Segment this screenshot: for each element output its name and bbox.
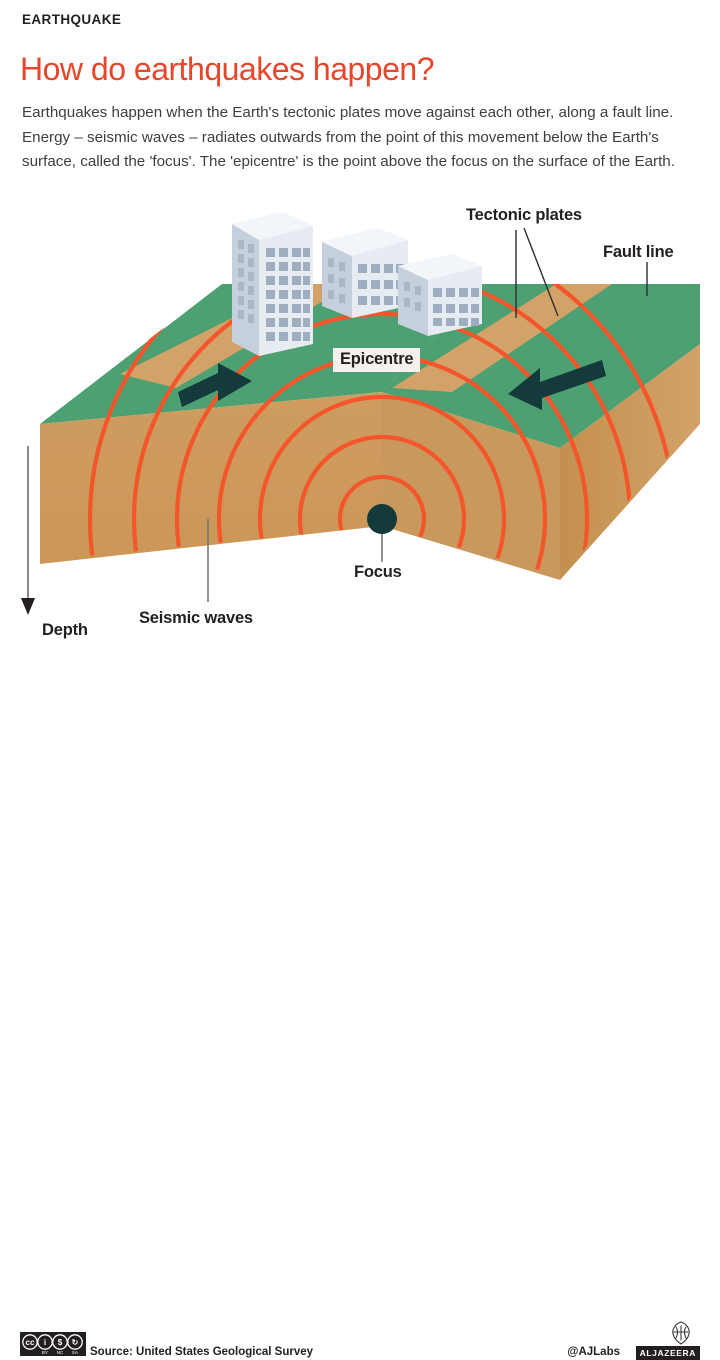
- svg-text:NC: NC: [57, 1350, 64, 1355]
- ajlabs-handle: @AJLabs: [567, 1346, 620, 1358]
- svg-text:↻: ↻: [72, 1338, 79, 1347]
- svg-text:i: i: [44, 1338, 46, 1347]
- earthquake-block-diagram: [0, 196, 720, 656]
- aljazeera-wordmark: ALJAZEERA: [636, 1346, 700, 1360]
- depth-arrow: [21, 446, 35, 615]
- footer: cc i $ ↻ BY NC SA Source: United States …: [0, 660, 720, 718]
- label-seismic-waves: Seismic waves: [139, 609, 253, 628]
- label-fault-line: Fault line: [603, 243, 673, 262]
- label-depth: Depth: [42, 621, 88, 640]
- svg-text:cc: cc: [26, 1338, 35, 1347]
- label-epicentre: Epicentre: [333, 348, 420, 372]
- label-tectonic-plates: Tectonic plates: [466, 206, 582, 225]
- kicker-label: EARTHQUAKE: [22, 12, 121, 27]
- infographic-root: EARTHQUAKE How do earthquakes happen? Ea…: [0, 0, 720, 718]
- label-focus: Focus: [354, 563, 402, 582]
- standfirst-text: Earthquakes happen when the Earth's tect…: [22, 101, 694, 175]
- svg-text:SA: SA: [72, 1350, 79, 1355]
- building-tall: [232, 212, 313, 356]
- building-mid: [322, 228, 408, 318]
- source-credit: Source: United States Geological Survey: [90, 1346, 313, 1358]
- creative-commons-icon: cc i $ ↻ BY NC SA: [20, 1332, 86, 1356]
- focus-point: [367, 504, 397, 534]
- svg-text:BY: BY: [42, 1350, 48, 1355]
- svg-text:$: $: [58, 1338, 63, 1347]
- page-title: How do earthquakes happen?: [20, 51, 434, 88]
- building-right: [398, 254, 482, 336]
